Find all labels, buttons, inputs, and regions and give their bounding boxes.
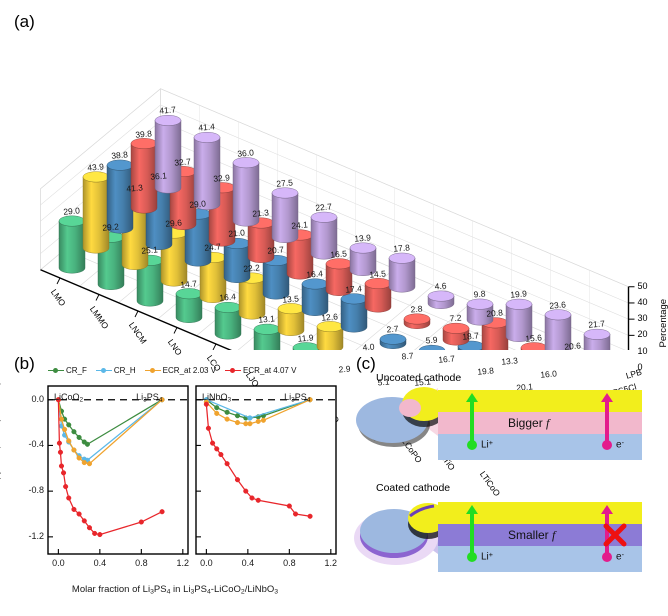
data-point xyxy=(87,461,92,466)
data-point xyxy=(160,509,165,514)
data-point xyxy=(85,442,90,447)
x-tick-2: 0.8 xyxy=(130,558,152,568)
data-point xyxy=(59,464,64,469)
data-point xyxy=(225,410,230,415)
x-tick-2: 0.8 xyxy=(278,558,300,568)
data-point xyxy=(248,416,253,421)
right-endpoint-label: Li3PS4 xyxy=(136,392,162,404)
bar-cylinder xyxy=(215,302,241,339)
data-point xyxy=(82,519,87,524)
data-point xyxy=(206,426,211,431)
data-point xyxy=(214,447,219,452)
y-tick-2: -0.8 xyxy=(20,485,44,495)
data-point xyxy=(77,512,82,517)
left-endpoint-label: LiNbO3 xyxy=(202,392,231,404)
electron-label: e- xyxy=(616,438,624,451)
x-tick-3: 1.2 xyxy=(320,558,342,568)
li-ion-label: Li+ xyxy=(481,550,493,563)
plot-b-stage: 0.0-0.4-0.8-1.20.00.40.81.2LiCoO2Li3PS40… xyxy=(0,352,350,611)
data-point xyxy=(62,427,67,432)
data-point xyxy=(214,411,219,416)
data-point xyxy=(225,417,230,422)
percentage-tick-50: 50 xyxy=(638,281,648,291)
x-tick-0: 0.0 xyxy=(195,558,217,568)
data-point xyxy=(66,496,71,501)
schematic-stage: Bigger fLi+e-Smaller fLi+e- xyxy=(352,352,668,611)
data-point xyxy=(77,435,82,440)
x-tick-1: 0.4 xyxy=(237,558,259,568)
bar-cylinder xyxy=(254,324,280,350)
li-ion-dot xyxy=(467,552,477,562)
panel-a-3d-bar-chart: (a) 29.029.225.114.716.413.111.92.95.115… xyxy=(0,0,668,350)
data-point xyxy=(82,460,87,465)
data-point xyxy=(243,489,248,494)
data-point xyxy=(219,452,224,457)
percentage-tick-40: 40 xyxy=(638,297,648,307)
electron-dot xyxy=(602,440,612,450)
left-endpoint-label: LiCoO2 xyxy=(54,392,83,404)
data-point xyxy=(63,484,68,489)
data-point xyxy=(59,417,64,422)
data-point xyxy=(261,418,266,423)
right-endpoint-label: Li3PS4 xyxy=(284,392,310,404)
percentage-axis-title: Percentage(%, molar fraction) xyxy=(659,284,668,362)
flux-label: Smaller f xyxy=(508,528,555,543)
data-point xyxy=(235,477,240,482)
data-point xyxy=(72,448,77,453)
data-point xyxy=(210,441,215,446)
flux-label: Bigger f xyxy=(508,416,549,431)
data-point xyxy=(293,512,298,517)
data-point xyxy=(87,525,92,530)
data-point xyxy=(235,420,240,425)
data-point xyxy=(139,520,144,525)
percentage-tick-20: 20 xyxy=(638,329,648,339)
bar-cylinder xyxy=(176,288,202,322)
x-axis-title: Molar fraction of Li3PS4 in Li3PS4-LiCoO… xyxy=(0,584,350,596)
bar-cylinder xyxy=(59,216,85,273)
electron-dot xyxy=(602,552,612,562)
data-point xyxy=(77,456,82,461)
bar-value-label: 20.6 xyxy=(552,339,593,352)
x-tick-1: 0.4 xyxy=(89,558,111,568)
li-ion-dot xyxy=(467,440,477,450)
data-point xyxy=(61,471,66,476)
li-ion-label: Li+ xyxy=(481,438,493,451)
y-tick-3: -1.2 xyxy=(20,531,44,541)
panel-b-line-charts: (b) CR_FCR_HECR_at 2.03 VECR_at 4.07 V 0… xyxy=(0,352,350,611)
y-tick-0: 0.0 xyxy=(20,394,44,404)
data-point xyxy=(256,498,261,503)
data-point xyxy=(58,450,63,455)
data-point xyxy=(72,507,77,512)
data-point xyxy=(287,504,292,509)
data-point xyxy=(66,439,71,444)
interphase-region xyxy=(399,399,421,417)
data-point xyxy=(225,461,230,466)
data-point xyxy=(256,419,261,424)
x-tick-3: 1.2 xyxy=(172,558,194,568)
panel-c-schematic: (c) Uncoated cathode Coated cathode Bigg… xyxy=(352,352,668,611)
data-point xyxy=(92,531,97,536)
data-point xyxy=(250,496,255,501)
y-tick-1: -0.4 xyxy=(20,439,44,449)
electron-label: e- xyxy=(616,550,624,563)
data-point xyxy=(214,405,219,410)
bar-chart-3d-stage: 29.029.225.114.716.413.111.92.95.115.19.… xyxy=(0,0,668,350)
data-point xyxy=(308,514,313,519)
data-point xyxy=(57,441,62,446)
data-point xyxy=(72,429,77,434)
data-point xyxy=(66,423,71,428)
x-tick-0: 0.0 xyxy=(47,558,69,568)
y-axis-title: Mutual reaction entropy △ED,mutual (eV/a… xyxy=(0,381,2,568)
data-point xyxy=(248,421,253,426)
data-point xyxy=(98,532,103,537)
percentage-tick-30: 30 xyxy=(638,313,648,323)
